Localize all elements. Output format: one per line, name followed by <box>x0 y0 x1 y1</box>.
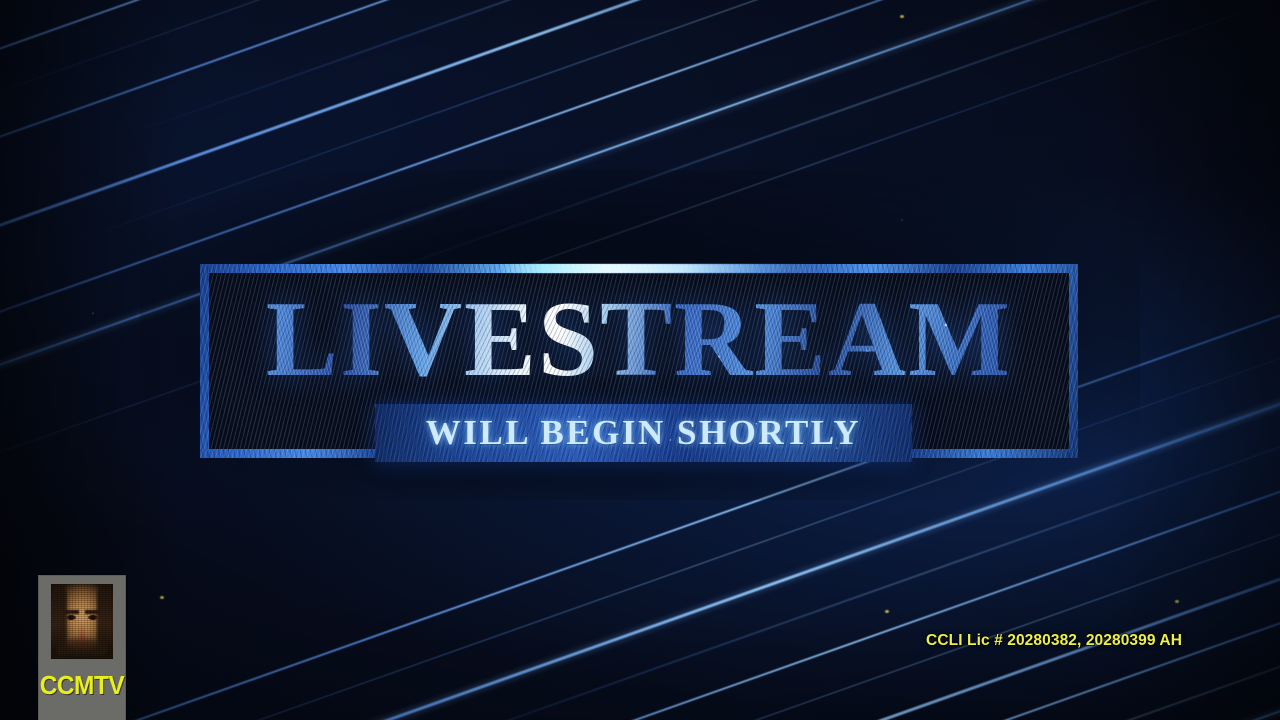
gold-fleck <box>885 610 889 613</box>
ccmtv-wordmark: CCMTV <box>40 670 125 701</box>
ccli-license-notice: CCLI Lic # 20280382, 20280399 AH <box>926 632 1182 650</box>
page-title: LIVESTREAM <box>200 286 1078 394</box>
gold-fleck <box>900 15 904 18</box>
gold-fleck <box>1175 600 1179 603</box>
subtitle-text: WILL BEGIN SHORTLY <box>375 404 912 462</box>
gold-fleck <box>160 596 164 599</box>
ccmtv-logo: CCMTV <box>38 575 126 720</box>
portrait-icon <box>51 584 113 659</box>
livestream-holding-slide: LIVESTREAM WILL BEGIN SHORTLY CCMTV CCLI… <box>0 0 1280 720</box>
